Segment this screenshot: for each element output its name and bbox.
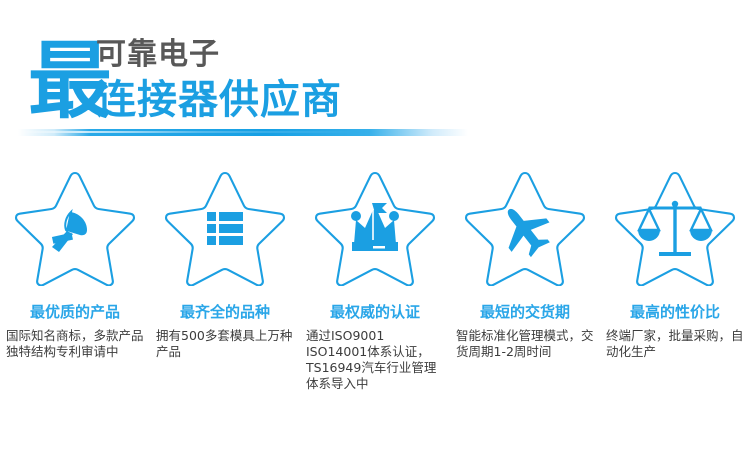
star-outline-icon xyxy=(14,168,136,286)
star-frame xyxy=(600,168,750,294)
crown-icon xyxy=(351,203,399,251)
feature-description: 拥有500多套模具上万种产品 xyxy=(150,328,300,360)
satellite-dish-icon xyxy=(52,212,87,252)
feature-description: 通过ISO9001 ISO14001体系认证，TS16949汽车行业管理体系导入… xyxy=(300,328,450,392)
star-frame xyxy=(300,168,450,294)
star-outline-icon xyxy=(314,168,436,286)
star-frame xyxy=(0,168,150,294)
feature-item: 最高的性价比 终端厂家，批量采购，自动化生产 xyxy=(600,168,750,360)
feature-item: 最短的交货期 智能标准化管理模式，交货周期1-2周时间 xyxy=(450,168,600,360)
star-frame xyxy=(150,168,300,294)
star-frame xyxy=(450,168,600,294)
feature-title: 最短的交货期 xyxy=(450,302,600,322)
headline-divider xyxy=(18,129,468,136)
feature-title: 最优质的产品 xyxy=(0,302,150,322)
feature-list: 最优质的产品 国际知名商标，多款产品独特结构专利审请中 最 xyxy=(0,168,752,408)
feature-item: 最权威的认证 通过ISO9001 ISO14001体系认证，TS16949汽车行… xyxy=(300,168,450,392)
balance-scale-icon xyxy=(638,201,712,256)
headline-block: 最 可靠电子 连接器供应商 xyxy=(28,36,488,132)
feature-description: 终端厂家，批量采购，自动化生产 xyxy=(600,328,750,360)
feature-title: 最高的性价比 xyxy=(600,302,750,322)
headline-subtitle: 可靠电子 xyxy=(96,36,488,74)
star-outline-icon xyxy=(614,168,736,286)
headline-title: 连接器供应商 xyxy=(96,74,488,126)
feature-item: 最优质的产品 国际知名商标，多款产品独特结构专利审请中 xyxy=(0,168,150,360)
feature-title: 最权威的认证 xyxy=(300,302,450,322)
promo-banner: 最 可靠电子 连接器供应商 最优 xyxy=(0,0,752,454)
airplane-icon xyxy=(490,195,559,265)
headline-text-group: 可靠电子 连接器供应商 xyxy=(96,36,488,126)
star-outline-icon xyxy=(164,168,286,286)
list-grid-icon xyxy=(207,212,243,245)
feature-item: 最齐全的品种 拥有500多套模具上万种产品 xyxy=(150,168,300,360)
feature-description: 智能标准化管理模式，交货周期1-2周时间 xyxy=(450,328,600,360)
feature-description: 国际知名商标，多款产品独特结构专利审请中 xyxy=(0,328,150,360)
star-outline-icon xyxy=(464,168,586,286)
feature-title: 最齐全的品种 xyxy=(150,302,300,322)
